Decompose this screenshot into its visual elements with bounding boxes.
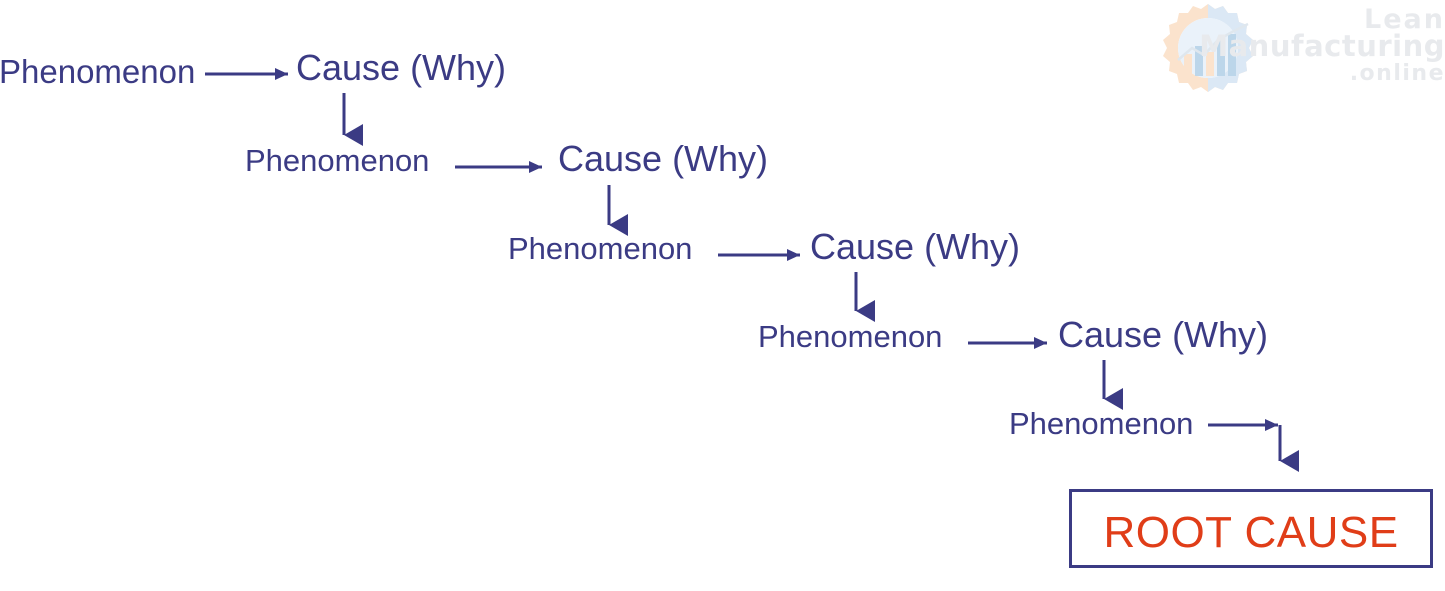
node-phenomenon-2: Phenomenon — [245, 145, 429, 176]
node-phenomenon-4: Phenomenon — [758, 321, 942, 352]
logo-line-lean: Lean — [1364, 6, 1445, 33]
node-cause-4: Cause (Why) — [1058, 317, 1268, 353]
root-cause-label: ROOT CAUSE — [1072, 508, 1430, 558]
logo-line-online: .online — [1350, 63, 1445, 85]
node-phenomenon-1: Phenomenon — [0, 55, 195, 88]
root-cause-box: ROOT CAUSE — [1069, 489, 1433, 568]
logo-line-manufacturing: Manufacturing — [1199, 32, 1445, 61]
node-cause-3: Cause (Why) — [810, 229, 1020, 265]
node-cause-2: Cause (Why) — [558, 141, 768, 177]
diagram-canvas: Lean Manufacturing .online — [0, 0, 1445, 591]
node-cause-1: Cause (Why) — [296, 50, 506, 86]
gear-bar-chart-icon — [1152, 2, 1264, 92]
lean-manufacturing-logo: Lean Manufacturing .online — [1152, 0, 1445, 95]
logo-wordmark: Lean Manufacturing .online — [1255, 2, 1445, 90]
node-phenomenon-3: Phenomenon — [508, 233, 692, 264]
node-phenomenon-5: Phenomenon — [1009, 408, 1193, 439]
